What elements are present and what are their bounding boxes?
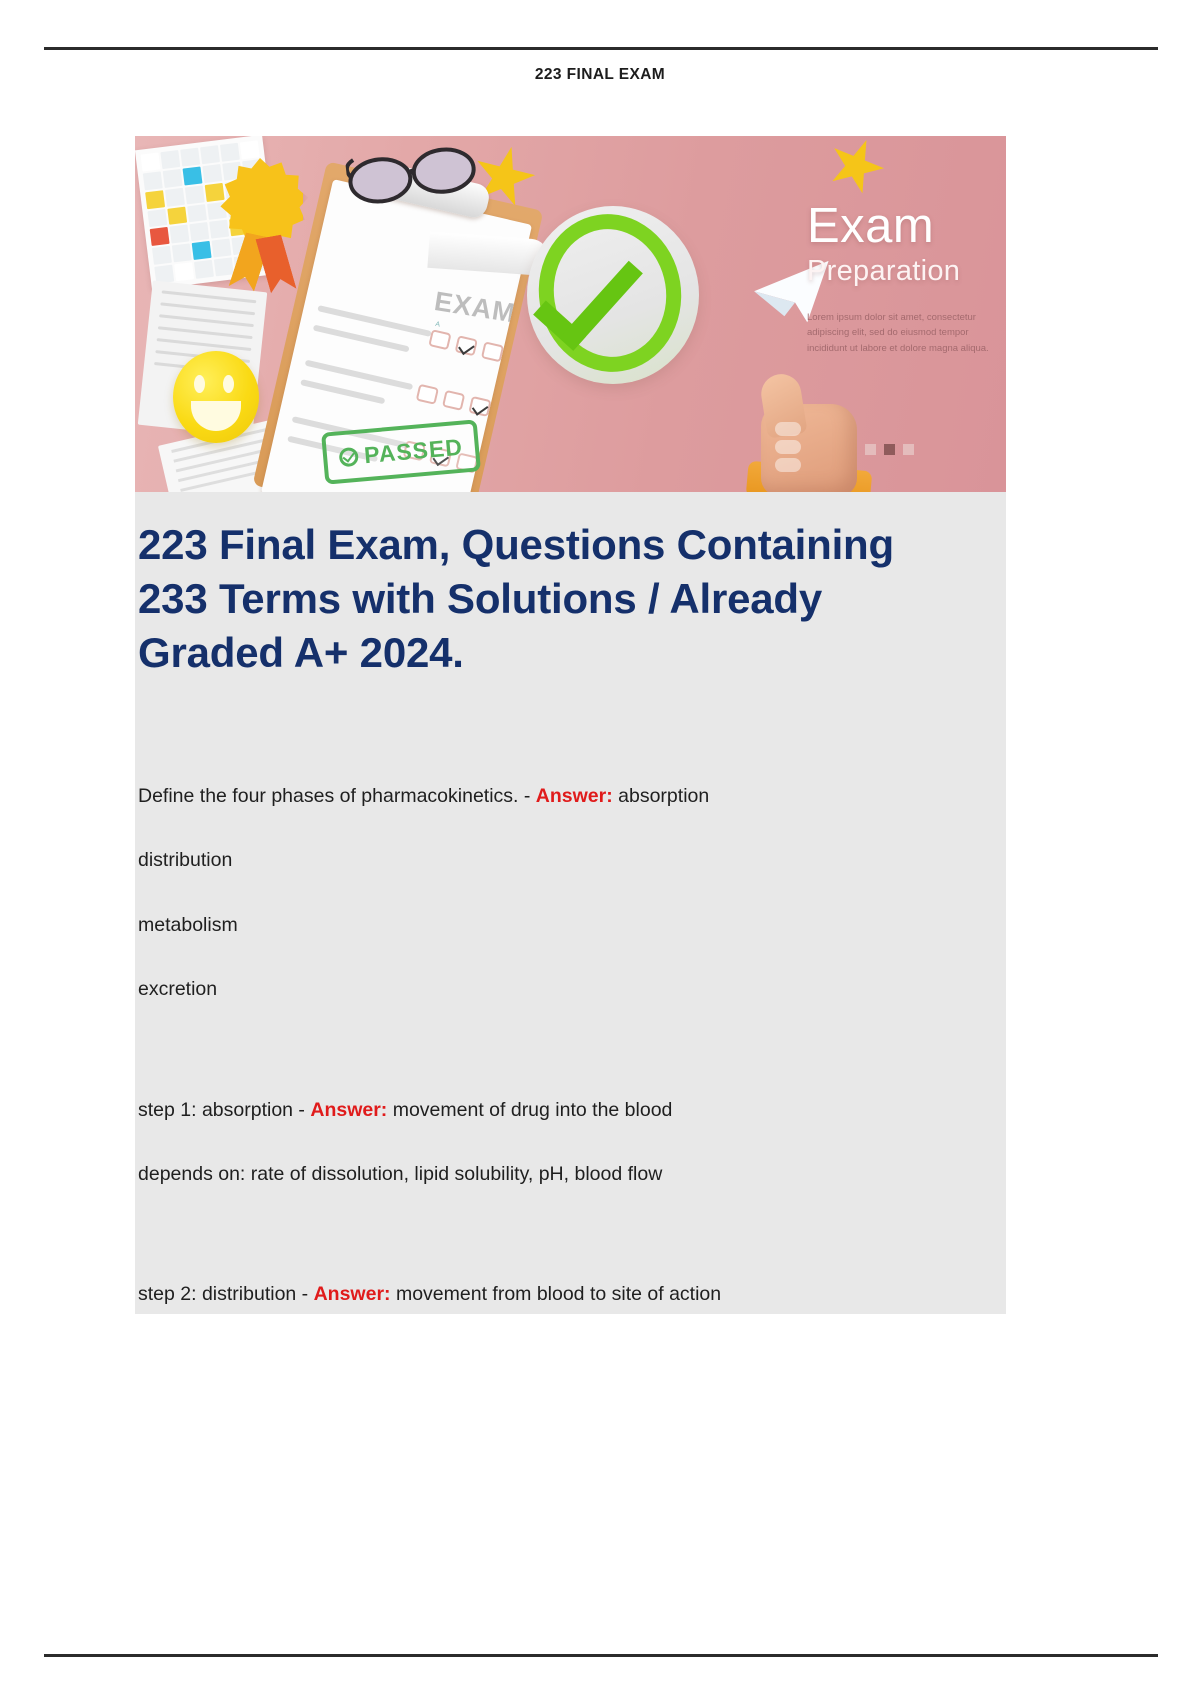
footer-divider (44, 1654, 1158, 1657)
banner-headline: Exam (807, 202, 1006, 251)
answer-label-3: Answer: (314, 1283, 391, 1305)
answer-line-distribution: distribution (138, 848, 984, 872)
qa-block-2: step 1: absorption - Answer: movement of… (138, 1098, 984, 1122)
question-text-2: step 1: absorption - (138, 1099, 310, 1121)
answer-line-metabolism: metabolism (138, 913, 984, 937)
smiley-face-icon (173, 351, 259, 443)
document-body: Define the four phases of pharmacokineti… (138, 784, 984, 1347)
document-content-panel: EXAM A (135, 136, 1006, 1314)
banner-lorem-text: Lorem ipsum dolor sit amet, consectetur … (807, 310, 999, 356)
carousel-dot-3[interactable] (903, 444, 914, 455)
question-text-1: Define the four phases of pharmacokineti… (138, 785, 536, 807)
carousel-dots[interactable] (865, 444, 914, 455)
answer-text-2: movement of drug into the blood (387, 1099, 672, 1121)
question-text-3: step 2: distribution - (138, 1283, 314, 1305)
banner-text-block: Exam Preparation Lorem ipsum dolor sit a… (807, 202, 1006, 356)
header-divider (44, 47, 1158, 50)
running-header-title: 223 FINAL EXAM (0, 66, 1200, 84)
carousel-dot-2[interactable] (884, 444, 895, 455)
answer-text-3: movement from blood to site of action (391, 1283, 722, 1305)
thumbs-up-icon (735, 368, 875, 492)
answer-line-excretion: excretion (138, 977, 984, 1001)
carousel-dot-1[interactable] (865, 444, 876, 455)
answer-text-1: absorption (613, 785, 709, 807)
document-page: 223 FINAL EXAM (0, 0, 1200, 1700)
qa-block-1: Define the four phases of pharmacokineti… (138, 784, 984, 808)
answer-label-1: Answer: (536, 785, 613, 807)
green-checkmark-icon (527, 206, 699, 384)
star-icon-right (820, 136, 893, 202)
qa-block-3: step 2: distribution - Answer: movement … (138, 1282, 984, 1306)
passed-stamp-label: PASSED (363, 433, 464, 469)
answer-line-depends-on: depends on: rate of dissolution, lipid s… (138, 1162, 984, 1186)
exam-preparation-banner: EXAM A (135, 136, 1006, 492)
banner-subheadline: Preparation (807, 255, 1006, 288)
answer-label-2: Answer: (310, 1099, 387, 1121)
clipboard-exam-label: EXAM (432, 286, 518, 329)
page-title: 223 Final Exam, Questions Containing 233… (135, 518, 965, 679)
